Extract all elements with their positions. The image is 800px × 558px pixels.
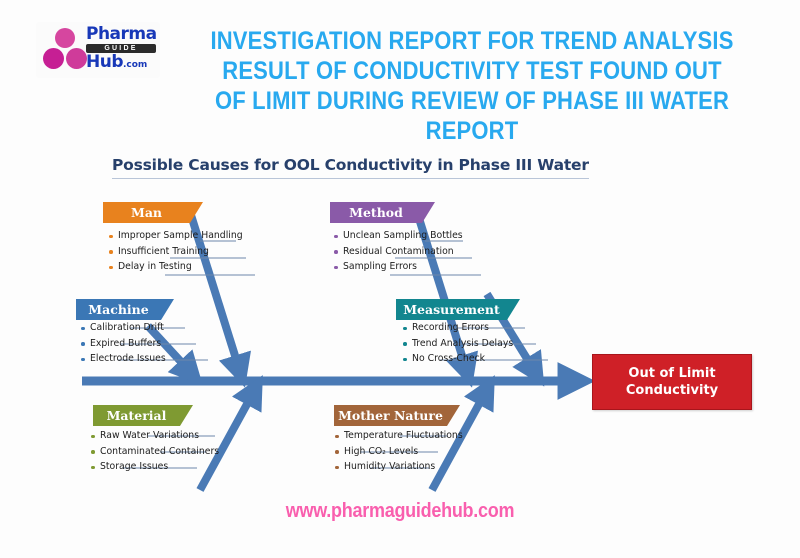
logo-hub-text: Hub.com	[86, 54, 158, 74]
logo-circle-bottom-left	[43, 48, 64, 69]
category-box-method[interactable]: Method	[330, 202, 435, 223]
cause-item: Sampling Errors	[333, 259, 463, 275]
cause-item: Humidity Variations	[334, 459, 463, 475]
cause-item: Insufficient Training	[108, 244, 243, 260]
category-box-mother-nature[interactable]: Mother Nature	[334, 405, 460, 426]
page-header: Pharma GUIDE Hub.com INVESTIGATION REPOR…	[0, 0, 800, 146]
cause-label: Raw Water Variations	[100, 430, 199, 441]
cause-label: Contaminated Containers	[100, 446, 219, 457]
cause-item: High CO₂ Levels	[334, 444, 463, 460]
cause-label: Trend Analysis Delays	[412, 338, 513, 349]
cause-item: Unclean Sampling Bottles	[333, 228, 463, 244]
cause-label: Delay in Testing	[118, 261, 192, 272]
cause-item: Residual Contamination	[333, 244, 463, 260]
logo-hub-word: Hub	[86, 52, 123, 72]
cause-list-method: Unclean Sampling Bottles Residual Contam…	[333, 228, 463, 275]
page-title: INVESTIGATION REPORT FOR TREND ANALYSIS …	[204, 26, 739, 146]
cause-label: Recording Errors	[412, 322, 489, 333]
cause-label: Storage Issues	[100, 461, 168, 472]
cause-item: Electrode Issues	[80, 351, 166, 367]
cause-item: Storage Issues	[90, 459, 219, 475]
cause-label: Residual Contamination	[343, 246, 454, 257]
cause-list-mother-nature: Temperature Fluctuations High CO₂ Levels…	[334, 428, 463, 475]
cause-list-man: Improper Sample Handling Insufficient Tr…	[108, 228, 243, 275]
logo-wordmark: Pharma GUIDE Hub.com	[86, 26, 158, 74]
cause-item: Calibration Drift	[80, 320, 166, 336]
cause-label: Unclean Sampling Bottles	[343, 230, 463, 241]
logo-circles-icon	[42, 28, 88, 72]
logo-circle-bottom-right	[66, 48, 87, 69]
cause-label: Expired Buffers	[90, 338, 161, 349]
category-box-man[interactable]: Man	[103, 202, 203, 223]
site-logo: Pharma GUIDE Hub.com	[36, 22, 160, 78]
cause-label: Calibration Drift	[90, 322, 164, 333]
cause-item: Improper Sample Handling	[108, 228, 243, 244]
category-box-material[interactable]: Material	[93, 405, 193, 426]
cause-list-machine: Calibration Drift Expired Buffers Electr…	[80, 320, 166, 367]
cause-item: Contaminated Containers	[90, 444, 219, 460]
category-box-machine[interactable]: Machine	[76, 299, 174, 320]
cause-item: No Cross-Check	[402, 351, 513, 367]
category-box-measurement[interactable]: Measurement	[396, 299, 520, 320]
cause-list-material: Raw Water Variations Contaminated Contai…	[90, 428, 219, 475]
cause-label: Temperature Fluctuations	[344, 430, 463, 441]
cause-label: No Cross-Check	[412, 353, 485, 364]
logo-pharma-text: Pharma	[86, 26, 158, 43]
cause-item: Expired Buffers	[80, 336, 166, 352]
footer-website-url[interactable]: www.pharmaguidehub.com	[40, 500, 760, 523]
cause-item: Trend Analysis Delays	[402, 336, 513, 352]
cause-item: Raw Water Variations	[90, 428, 219, 444]
logo-circle-top	[55, 28, 75, 48]
cause-label: Humidity Variations	[344, 461, 435, 472]
cause-item: Temperature Fluctuations	[334, 428, 463, 444]
cause-item: Recording Errors	[402, 320, 513, 336]
cause-list-measurement: Recording Errors Trend Analysis Delays N…	[402, 320, 513, 367]
logo-dotcom-text: .com	[123, 60, 147, 70]
effect-line-2: Conductivity	[626, 382, 718, 399]
fishbone-diagram: Possible Causes for OOL Conductivity in …	[0, 146, 800, 496]
cause-label: Improper Sample Handling	[118, 230, 243, 241]
cause-label: Insufficient Training	[118, 246, 209, 257]
effect-line-1: Out of Limit	[626, 365, 718, 382]
cause-label: Electrode Issues	[90, 353, 166, 364]
cause-label: High CO₂ Levels	[344, 446, 418, 457]
effect-box[interactable]: Out of Limit Conductivity	[592, 354, 752, 410]
cause-label: Sampling Errors	[343, 261, 417, 272]
cause-item: Delay in Testing	[108, 259, 243, 275]
